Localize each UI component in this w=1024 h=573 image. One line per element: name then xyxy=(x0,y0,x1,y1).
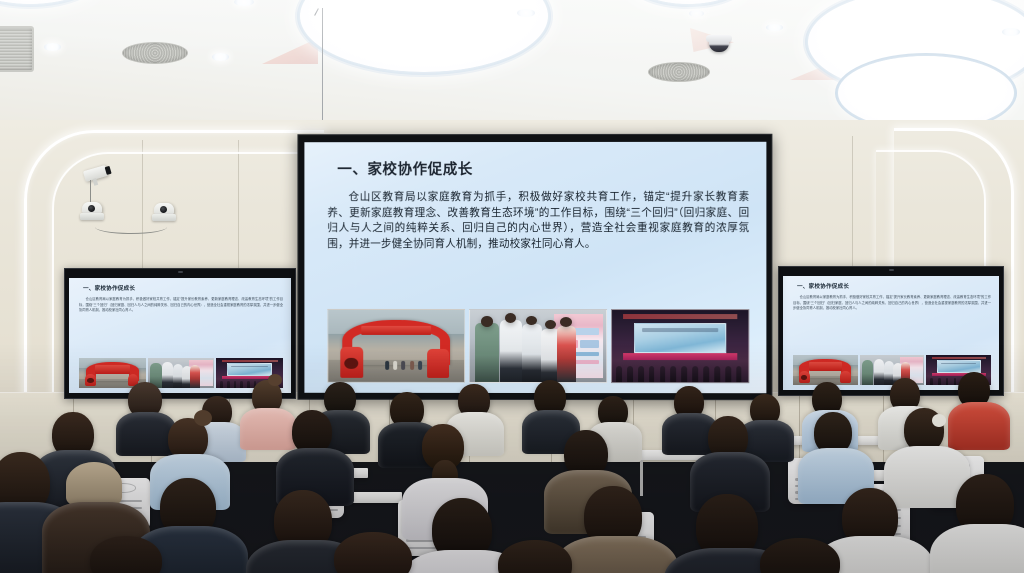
right-monitor-slide-paragraph: 仓山区教育局以家庭教育为抓手，积极做好家校共育工作，锚定“提升家长教育素养、更新… xyxy=(793,295,991,312)
ceiling-downlight-4 xyxy=(517,9,535,17)
ptz-camera-lens xyxy=(88,205,95,212)
hair-scrunchie xyxy=(932,414,946,427)
hanging-cable xyxy=(322,8,323,130)
right-monitor-slide-title: 一、家校协作促成长 xyxy=(797,282,849,290)
torso xyxy=(116,412,176,456)
camera-cable-drop xyxy=(90,180,92,202)
hair-bun xyxy=(194,410,212,426)
photo-person xyxy=(393,361,397,370)
hvac-vent-round-1 xyxy=(122,42,188,64)
ceiling-downlight-2 xyxy=(212,53,229,61)
left-monitor-slide-title: 一、家校协作促成长 xyxy=(83,284,135,292)
photo-exhibition-visit xyxy=(469,309,607,383)
camera-cable xyxy=(95,220,167,234)
ptz-camera-base xyxy=(80,213,104,220)
auditorium-projection xyxy=(634,323,727,353)
photo-red-arch-gate xyxy=(793,355,858,385)
photo-person xyxy=(500,320,522,382)
lecture-hall-scene: 一、家校协作促成长 仓山区教育局以家庭教育为抓手，积极做好家校共育工作，锚定“提… xyxy=(0,0,1024,573)
head xyxy=(334,532,412,573)
auditorium-seat xyxy=(671,366,677,382)
auditorium-seat xyxy=(703,366,709,382)
auditorium-seat xyxy=(725,366,731,382)
ptz-camera-lens xyxy=(160,206,167,213)
left-monitor-slide-paragraph: 仓山区教育局以家庭教育为抓手，积极做好家校共育工作，锚定“提升家长教育素养、更新… xyxy=(79,297,283,314)
auditorium-seat xyxy=(682,366,688,382)
torso xyxy=(930,524,1024,573)
arch-decor-hole xyxy=(345,357,359,369)
photo-person-head xyxy=(545,320,556,329)
photo-person xyxy=(557,326,576,382)
hvac-vent-wall xyxy=(0,26,34,72)
photo-person xyxy=(522,324,542,382)
slide-paragraph: 仓山区教育局以家庭教育为抓手，积极做好家校共育工作，锚定“提升家长教育素养、更新… xyxy=(327,190,749,253)
left-monitor-slide-body: 仓山区教育局以家庭教育为抓手，积极做好家校共育工作，锚定“提升家长教育素养、更新… xyxy=(79,297,283,314)
photo-person xyxy=(385,361,389,370)
ceiling-downlight-7 xyxy=(689,10,704,17)
arch-banner xyxy=(361,326,432,335)
auditorium-top-banner xyxy=(623,314,737,319)
left-monitor-slide: 一、家校协作促成长 仓山区教育局以家庭教育为抓手，积极做好家校共育工作，锚定“提… xyxy=(69,278,291,393)
photo-person-head xyxy=(526,316,537,325)
ceiling-downlight-6 xyxy=(1002,28,1020,36)
hair-bun xyxy=(268,374,282,386)
ceiling-round-light-5 xyxy=(838,56,1014,130)
auditorium-seat xyxy=(649,366,655,382)
photo-person xyxy=(475,323,498,382)
auditorium-seat xyxy=(714,366,720,382)
torso xyxy=(240,408,296,450)
auditorium-seat xyxy=(692,366,698,382)
ceiling xyxy=(0,0,1024,132)
torso xyxy=(948,402,1010,450)
photo-person xyxy=(410,361,414,370)
main-presentation-screen[interactable]: 一、家校协作促成长 仓山区教育局以家庭教育为抓手，积极做好家校共育工作，锚定“提… xyxy=(297,134,772,400)
ptz-camera-left xyxy=(80,202,104,222)
auditorium-stage-skirt xyxy=(623,353,737,360)
desk-leg xyxy=(640,460,643,496)
photo-auditorium-lecture xyxy=(611,309,749,383)
monitor-indicator xyxy=(889,269,894,271)
photo-red-arch-gate xyxy=(327,309,465,383)
hvac-vent-round-2 xyxy=(648,62,710,82)
right-monitor-slide-body: 仓山区教育局以家庭教育为抓手，积极做好家校共育工作，锚定“提升家长教育素养、更新… xyxy=(793,295,991,312)
slide-title: 一、家校协作促成长 xyxy=(337,158,473,179)
head xyxy=(66,462,122,506)
auditorium-seat xyxy=(660,366,666,382)
photo-exhibition-visit xyxy=(860,355,925,385)
photo-person-head xyxy=(481,316,493,327)
head xyxy=(498,540,572,573)
left-monitor-photo-row xyxy=(79,358,283,388)
torso xyxy=(554,536,678,573)
ceiling-downlight-1 xyxy=(44,43,61,51)
auditorium-seat xyxy=(616,366,622,382)
auditorium-seat xyxy=(736,366,742,382)
photo-person xyxy=(418,361,422,370)
monitor-indicator xyxy=(178,271,183,273)
slide-photo-row xyxy=(327,309,749,383)
slide-body: 仓山区教育局以家庭教育为抓手，积极做好家校共育工作，锚定“提升家长教育素养、更新… xyxy=(327,190,749,253)
photo-exhibition-visit xyxy=(148,358,215,388)
auditorium-seat xyxy=(638,366,644,382)
left-monitor[interactable]: 一、家校协作促成长 仓山区教育局以家庭教育为抓手，积极做好家校共育工作，锚定“提… xyxy=(64,268,296,399)
arch-pillar-right xyxy=(427,349,449,378)
presentation-slide: 一、家校协作促成长 仓山区教育局以家庭教育为抓手，积极做好家校共育工作，锚定“提… xyxy=(304,142,766,393)
auditorium-seat xyxy=(627,366,633,382)
ceiling-downlight-5 xyxy=(766,24,783,31)
